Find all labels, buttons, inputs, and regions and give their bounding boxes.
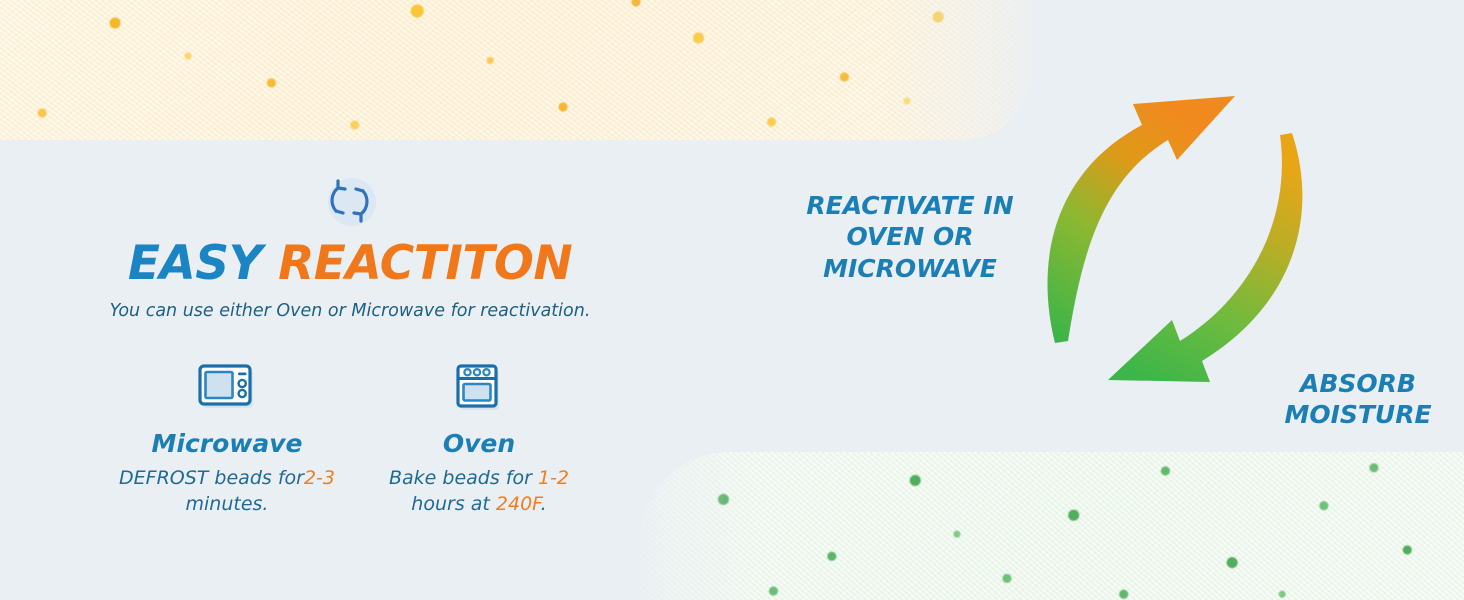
method-microwave-label: Microwave [118, 429, 336, 458]
cycle-label-absorb-line2: MOISTURE [1252, 399, 1464, 430]
saturated-beads-texture-panel [640, 452, 1464, 600]
oven-desc-temperature: 240F [496, 493, 541, 515]
method-oven: Oven Bake beads for 1-2 hours at 240F. [370, 361, 588, 517]
microwave-icon [118, 361, 336, 417]
oven-desc-prefix: Bake beads for [389, 467, 538, 489]
oven-desc-suffix: . [541, 493, 547, 515]
cycle-label-reactivate-line1: REACTIVATE IN [790, 190, 1030, 221]
reactivation-cycle-diagram [1030, 78, 1320, 388]
method-oven-description: Bake beads for 1-2 hours at 240F. [370, 466, 588, 517]
reactivation-infographic-banner: EASY REACTITON You can use either Oven o… [0, 0, 1464, 600]
saturated-beads-grain [640, 452, 1464, 600]
method-microwave: Microwave DEFROST beads for2-3 minutes. [118, 361, 336, 517]
dry-beads-fade [882, 0, 1032, 140]
method-microwave-description: DEFROST beads for2-3 minutes. [118, 466, 336, 517]
oven-desc-duration: 1-2 [538, 467, 569, 489]
oven-desc-middle: hours at [411, 493, 496, 515]
page-title: EASY REACTITON [0, 240, 700, 287]
cycle-label-absorb: ABSORB MOISTURE [1252, 368, 1464, 431]
dry-beads-grain [0, 0, 1032, 140]
refresh-cycle-icon [313, 168, 387, 234]
microwave-desc-suffix: minutes. [186, 493, 269, 515]
subtitle: You can use either Oven or Microwave for… [0, 301, 700, 321]
reactivation-instructions-block: EASY REACTITON You can use either Oven o… [0, 168, 700, 517]
cycle-label-reactivate-line2: OVEN OR [790, 221, 1030, 252]
method-oven-label: Oven [370, 429, 588, 458]
oven-icon [370, 361, 588, 417]
method-list: Microwave DEFROST beads for2-3 minutes. [0, 361, 700, 517]
headline-word-easy: EASY [128, 236, 262, 291]
cycle-label-reactivate: REACTIVATE IN OVEN OR MICROWAVE [790, 190, 1030, 284]
cycle-label-reactivate-line3: MICROWAVE [790, 253, 1030, 284]
dry-beads-texture-panel [0, 0, 1032, 140]
cycle-label-absorb-line1: ABSORB [1252, 368, 1464, 399]
microwave-desc-prefix: DEFROST beads for [119, 467, 304, 489]
microwave-desc-duration: 2-3 [304, 467, 335, 489]
headline-word-reactiton: REACTITON [278, 236, 572, 291]
